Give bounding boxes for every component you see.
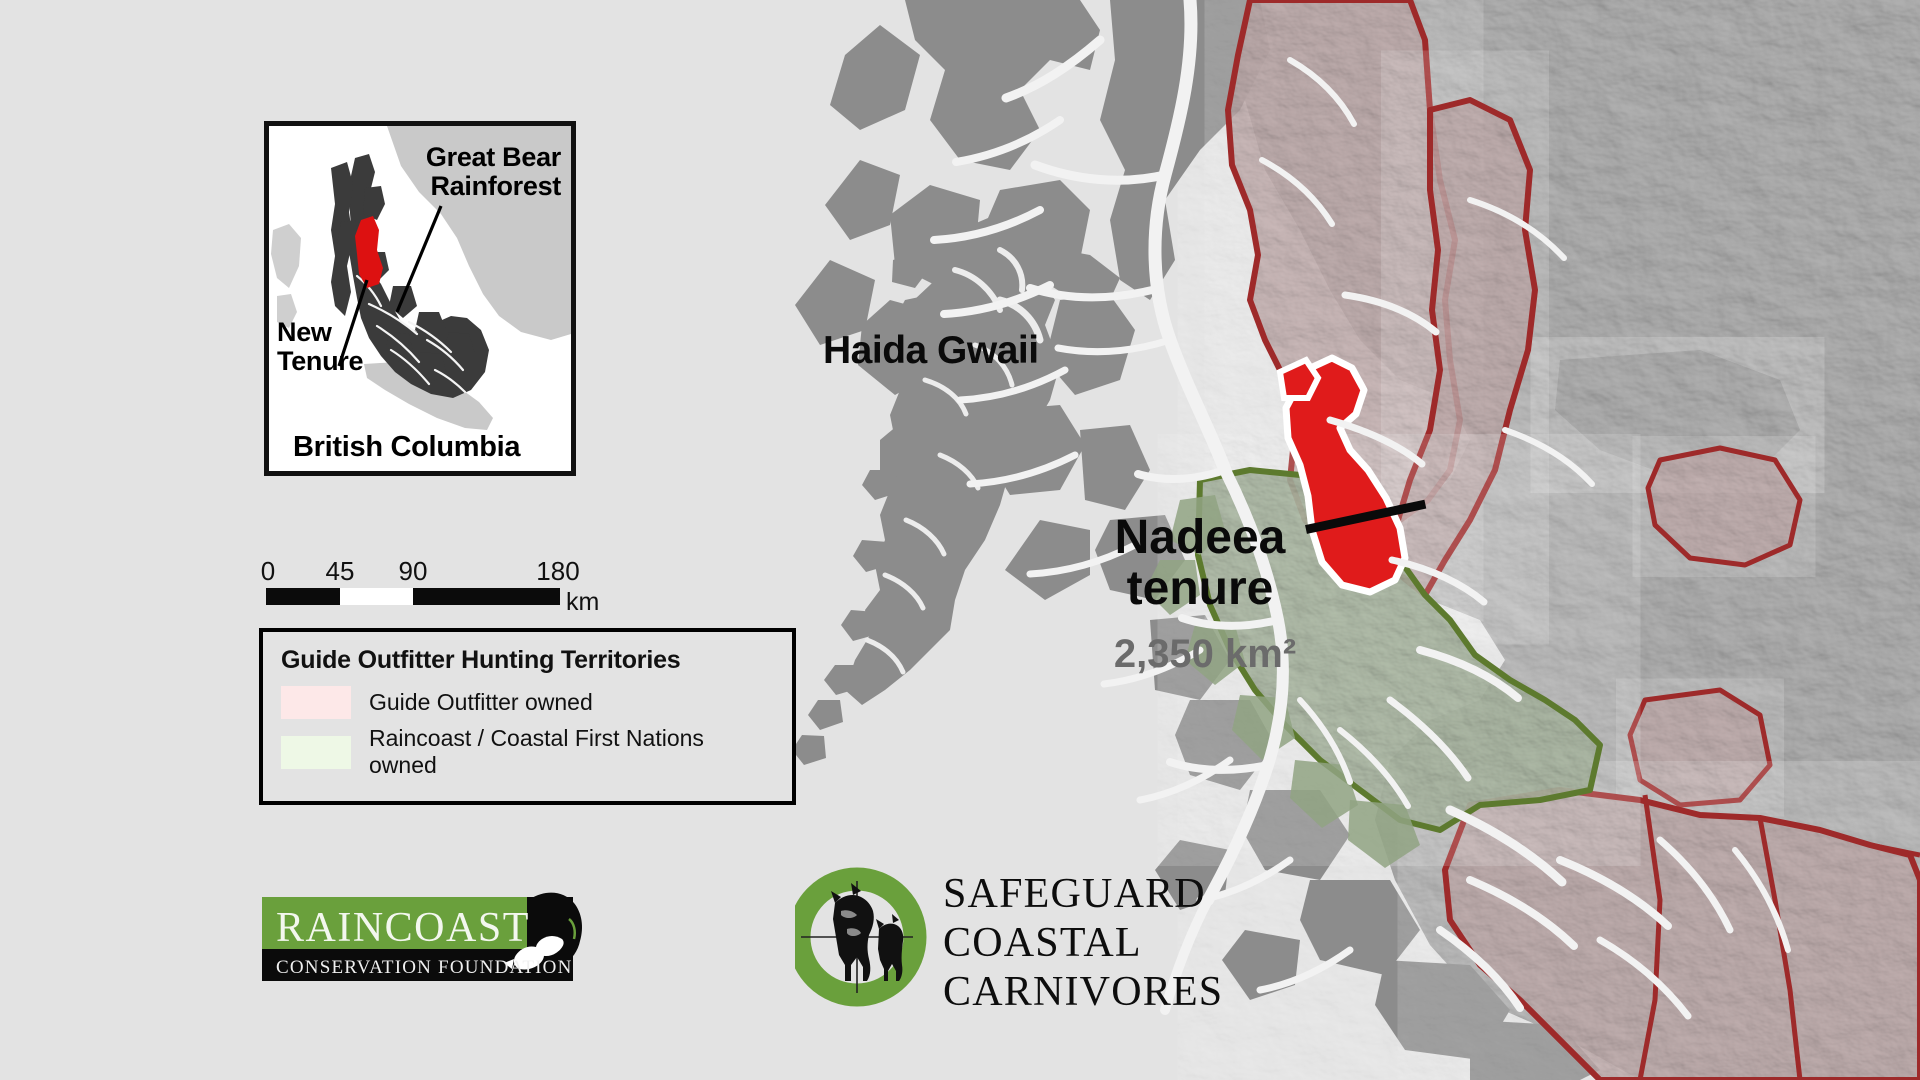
scale-segment-1 [266,588,340,605]
inset-map-british-columbia: Great Bear Rainforest New Tenure British… [264,121,576,476]
raincoast-conservation-foundation-logo: RAINCOAST CONSERVATION FOUNDATION [262,889,607,985]
scale-tick-180: 180 [536,556,579,587]
scale-tick-90: 90 [399,556,428,587]
label-nadeea-area: 2,350 km² [1100,634,1310,674]
scale-bar-ticks: 0 45 90 180 [266,556,560,586]
scale-tick-0: 0 [261,556,275,587]
scale-bar-graphic [266,588,560,605]
label-haida-gwaii: Haida Gwaii [823,331,1039,370]
legend-item-guide-outfitter: Guide Outfitter owned [281,686,774,719]
label-nadeea-tenure: Nadeea tenure [1110,513,1290,615]
legend-title: Guide Outfitter Hunting Territories [281,646,774,675]
safeguard-coastal-carnivores-logo: SAFEGUARD COASTAL CARNIVORES [795,861,1255,1013]
legend-swatch-guide-outfitter [281,686,351,719]
legend-item-raincoast: Raincoast / Coastal First Nations owned [281,725,774,779]
legend-swatch-raincoast [281,736,351,769]
inset-label-new-tenure: New Tenure [277,318,363,376]
safeguard-line-1: SAFEGUARD [943,871,1206,917]
safeguard-line-2: COASTAL [943,920,1142,966]
raincoast-wordmark: RAINCOAST [276,905,530,951]
scale-segment-2 [340,588,413,605]
scale-bar: 0 45 90 180 km [266,556,560,605]
scale-tick-45: 45 [326,556,355,587]
legend-label-guide-outfitter: Guide Outfitter owned [369,689,593,716]
inset-label-great-bear-rainforest: Great Bear Rainforest [426,143,561,201]
scale-bar-unit: km [566,588,599,617]
legend-label-raincoast: Raincoast / Coastal First Nations owned [369,725,774,779]
scale-segment-3 [413,588,560,605]
safeguard-line-3: CARNIVORES [943,969,1223,1013]
inset-label-british-columbia: British Columbia [293,432,520,463]
raincoast-subtitle: CONSERVATION FOUNDATION [276,957,573,978]
legend-panel: Guide Outfitter Hunting Territories Guid… [259,628,796,805]
